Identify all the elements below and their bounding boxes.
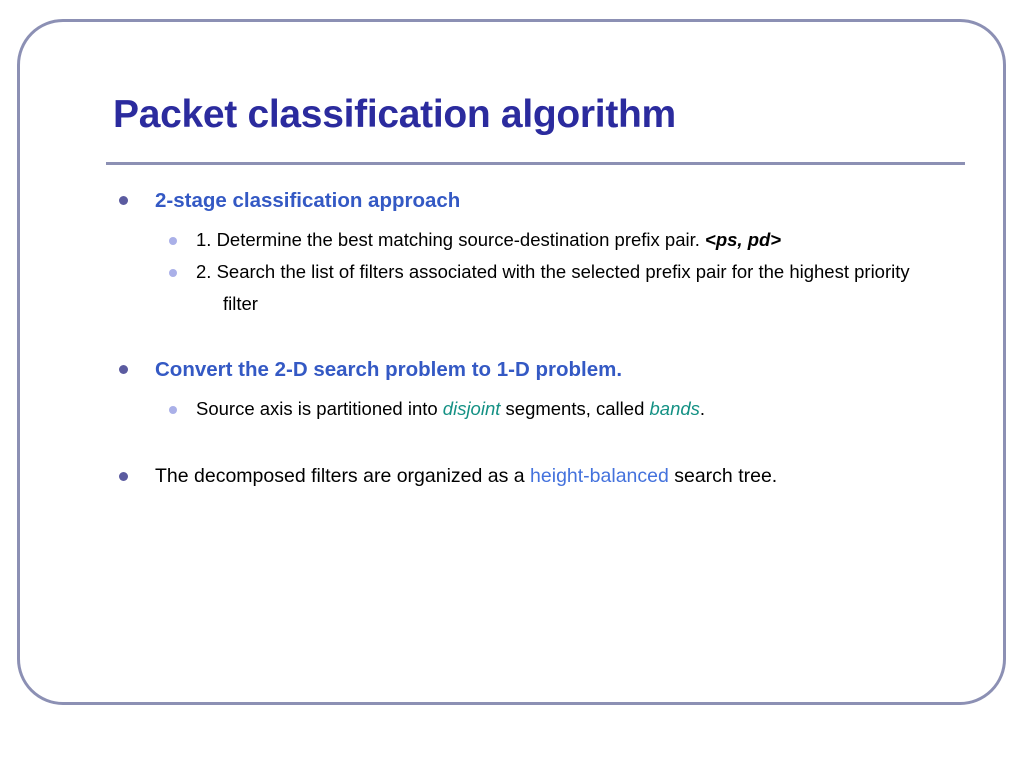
bullet-text-segment: . <box>700 398 705 419</box>
bullet-text: Source axis is partitioned into disjoint… <box>196 393 929 425</box>
bullet-dot-icon <box>119 472 128 481</box>
bullet-item-level2-3: Source axis is partitioned into disjoint… <box>20 393 1009 425</box>
slide-frame: Packet classification algorithm 2-stage … <box>17 19 1006 705</box>
spacer <box>20 425 1009 461</box>
bullet-dot-icon <box>119 196 128 205</box>
spacer <box>20 385 1009 393</box>
page-title: Packet classification algorithm <box>113 94 676 137</box>
bullet-item-level2-2: 2. Search the list of filters associated… <box>20 256 1009 320</box>
bullet-text-segment: search tree. <box>669 465 777 487</box>
bullet-dot-icon <box>169 269 177 277</box>
emphasis-prefix-pair: <ps, pd> <box>705 229 781 250</box>
bullet-text: Convert the 2-D search problem to 1-D pr… <box>155 354 949 385</box>
bullet-item-level1-3: The decomposed filters are organized as … <box>20 461 1009 492</box>
bullet-text: 2. Search the list of filters associated… <box>196 256 929 320</box>
slide-body: 2-stage classification approach 1. Deter… <box>20 185 1009 492</box>
bullet-text-segment: Source axis is partitioned into <box>196 398 443 419</box>
bullet-item-level1-heading-2: Convert the 2-D search problem to 1-D pr… <box>20 354 1009 385</box>
bullet-dot-icon <box>169 237 177 245</box>
bullet-text: 2-stage classification approach <box>155 185 949 216</box>
spacer <box>20 216 1009 224</box>
bullet-text: 1. Determine the best matching source-de… <box>196 224 929 256</box>
emphasis-disjoint: disjoint <box>443 398 501 419</box>
bullet-text-segment: 1. Determine the best matching source-de… <box>196 229 705 250</box>
title-divider <box>106 162 965 165</box>
bullet-dot-icon <box>119 365 128 374</box>
emphasis-height-balanced: height-balanced <box>530 465 669 487</box>
bullet-text-segment: segments, called <box>500 398 649 419</box>
emphasis-bands: bands <box>650 398 700 419</box>
bullet-text-segment: The decomposed filters are organized as … <box>155 465 530 487</box>
bullet-dot-icon <box>169 406 177 414</box>
spacer <box>20 320 1009 354</box>
bullet-text: The decomposed filters are organized as … <box>155 461 949 492</box>
bullet-item-level1-heading-1: 2-stage classification approach <box>20 185 1009 216</box>
bullet-item-level2-1: 1. Determine the best matching source-de… <box>20 224 1009 256</box>
